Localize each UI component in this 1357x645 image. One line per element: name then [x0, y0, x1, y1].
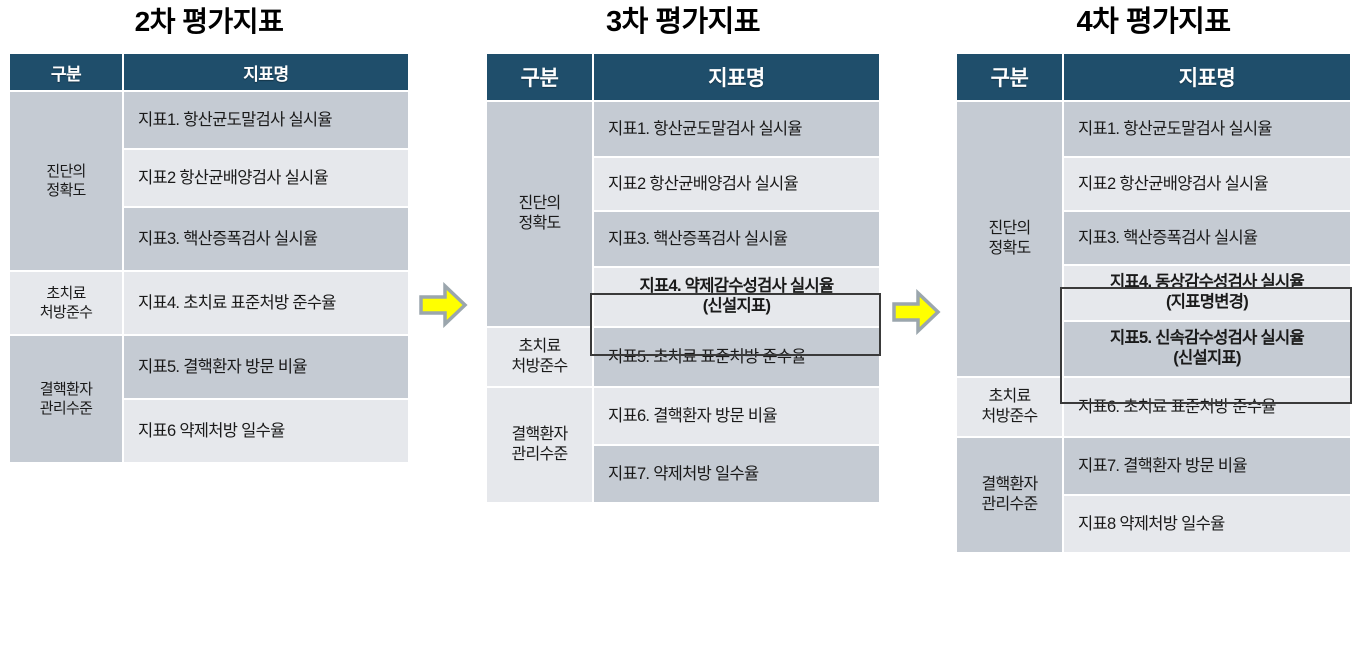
category-cell-patient-management: 결핵환자 관리수준 [487, 388, 592, 502]
table-header-row: 구분 지표명 [10, 54, 408, 90]
category-cell-diagnostic-accuracy: 진단의 정확도 [487, 102, 592, 326]
indicator-cell: 지표2 항산균배양검사 실시율 [594, 158, 879, 210]
column-header-indicator: 지표명 [1064, 54, 1350, 100]
table-header-row: 구분 지표명 [487, 54, 879, 100]
indicator-cell: 지표1. 항산균도말검사 실시율 [1064, 102, 1350, 156]
table-row: 결핵환자 관리수준 지표7. 결핵환자 방문 비율 [957, 438, 1350, 494]
category-cell-initial-treatment: 초치료 처방준수 [957, 378, 1062, 436]
indicator-table-4th: 구분 지표명 진단의 정확도 지표1. 항산균도말검사 실시율 지표2 항산균배… [955, 52, 1352, 554]
panel-title-4th: 4차 평가지표 [955, 0, 1352, 52]
panel-title-2nd: 2차 평가지표 [8, 0, 410, 52]
column-header-indicator: 지표명 [124, 54, 408, 90]
indicator-cell: 지표7. 약제처방 일수율 [594, 446, 879, 502]
indicator-cell: 지표6. 초치료 표준처방 준수율 [1064, 378, 1350, 436]
indicator-table-2nd: 구분 지표명 진단의 정확도 지표1. 항산균도말검사 실시율 지표2 항산균배… [8, 52, 410, 464]
table-row: 진단의 정확도 지표1. 항산균도말검사 실시율 [487, 102, 879, 156]
indicator-cell: 지표3. 핵산증폭검사 실시율 [124, 208, 408, 270]
table-header-row: 구분 지표명 [957, 54, 1350, 100]
panel-3rd-evaluation: 3차 평가지표 구분 지표명 진단의 정확도 지표1. 항산균도말검사 실시율 … [485, 0, 881, 504]
table-row: 결핵환자 관리수준 지표6. 결핵환자 방문 비율 [487, 388, 879, 444]
category-cell-initial-treatment: 초치료 처방준수 [10, 272, 122, 334]
column-header-category: 구분 [957, 54, 1062, 100]
indicator-cell: 지표3. 핵산증폭검사 실시율 [1064, 212, 1350, 264]
slide-canvas: 2차 평가지표 구분 지표명 진단의 정확도 지표1. 항산균도말검사 실시율 … [0, 0, 1357, 645]
table-row: 초치료 처방준수 지표5. 초치료 표준처방 준수율 [487, 328, 879, 386]
table-row: 초치료 처방준수 지표6. 초치료 표준처방 준수율 [957, 378, 1350, 436]
indicator-cell: 지표1. 항산균도말검사 실시율 [124, 92, 408, 148]
indicator-cell: 지표3. 핵산증폭검사 실시율 [594, 212, 879, 266]
indicator-cell-highlighted: 지표5. 신속감수성검사 실시율 (신설지표) [1064, 322, 1350, 376]
indicator-cell: 지표5. 결핵환자 방문 비율 [124, 336, 408, 398]
indicator-cell: 지표2 항산균배양검사 실시율 [124, 150, 408, 206]
table-row: 결핵환자 관리수준 지표5. 결핵환자 방문 비율 [10, 336, 408, 398]
table-row: 진단의 정확도 지표1. 항산균도말검사 실시율 [957, 102, 1350, 156]
column-header-indicator: 지표명 [594, 54, 879, 100]
indicator-cell-highlighted: 지표4. 동상감수성검사 실시율 (지표명변경) [1064, 266, 1350, 320]
column-header-category: 구분 [487, 54, 592, 100]
panel-4th-evaluation: 4차 평가지표 구분 지표명 진단의 정확도 지표1. 항산균도말검사 실시율 … [955, 0, 1352, 554]
indicator-cell: 지표1. 항산균도말검사 실시율 [594, 102, 879, 156]
category-cell-initial-treatment: 초치료 처방준수 [487, 328, 592, 386]
arrow-right-icon-1 [417, 282, 469, 328]
indicator-cell: 지표6. 결핵환자 방문 비율 [594, 388, 879, 444]
indicator-cell: 지표6 약제처방 일수율 [124, 400, 408, 462]
indicator-cell: 지표8 약제처방 일수율 [1064, 496, 1350, 552]
table-row: 진단의 정확도 지표1. 항산균도말검사 실시율 [10, 92, 408, 148]
category-cell-diagnostic-accuracy: 진단의 정확도 [957, 102, 1062, 376]
category-cell-diagnostic-accuracy: 진단의 정확도 [10, 92, 122, 270]
panel-2nd-evaluation: 2차 평가지표 구분 지표명 진단의 정확도 지표1. 항산균도말검사 실시율 … [8, 0, 410, 464]
indicator-cell-highlighted: 지표4. 약제감수성검사 실시율 (신설지표) [594, 268, 879, 326]
indicator-cell: 지표4. 초치료 표준처방 준수율 [124, 272, 408, 334]
column-header-category: 구분 [10, 54, 122, 90]
panel-title-3rd: 3차 평가지표 [485, 0, 881, 52]
indicator-cell: 지표5. 초치료 표준처방 준수율 [594, 328, 879, 386]
table-row: 초치료 처방준수 지표4. 초치료 표준처방 준수율 [10, 272, 408, 334]
category-cell-patient-management: 결핵환자 관리수준 [957, 438, 1062, 552]
indicator-cell: 지표7. 결핵환자 방문 비율 [1064, 438, 1350, 494]
arrow-right-icon-2 [890, 289, 942, 335]
indicator-cell: 지표2 항산균배양검사 실시율 [1064, 158, 1350, 210]
category-cell-patient-management: 결핵환자 관리수준 [10, 336, 122, 462]
indicator-table-3rd: 구분 지표명 진단의 정확도 지표1. 항산균도말검사 실시율 지표2 항산균배… [485, 52, 881, 504]
